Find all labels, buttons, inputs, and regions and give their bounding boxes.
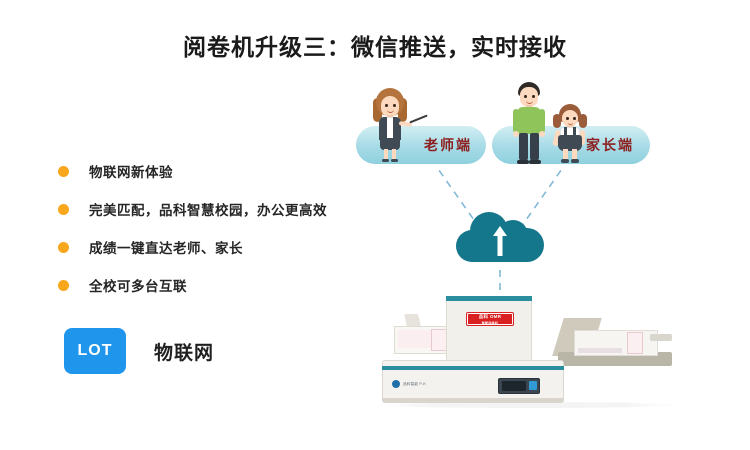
bullet-dot-icon xyxy=(58,166,69,177)
machine-logo-mark-icon xyxy=(392,380,400,388)
iot-badge: LOT xyxy=(64,328,126,374)
feature-label: 完美匹配，品科智慧校园，办公更高效 xyxy=(89,199,327,219)
cloud-upload-icon xyxy=(456,208,544,268)
feature-label: 物联网新体验 xyxy=(89,161,173,181)
teacher-illustration-icon xyxy=(362,82,418,162)
feature-label: 成绩一键直达老师、家长 xyxy=(89,237,243,257)
list-item: 完美匹配，品科智慧校园，办公更高效 xyxy=(58,190,358,228)
architecture-diagram: 老师端 家长端 xyxy=(340,80,740,440)
endpoint-parent-label: 家长端 xyxy=(586,135,634,155)
bullet-dot-icon xyxy=(58,204,69,215)
list-item: 物联网新体验 xyxy=(58,152,358,190)
daughter-illustration-icon xyxy=(548,102,592,164)
list-item: 成绩一键直达老师、家长 xyxy=(58,228,358,266)
feature-label: 全校可多台互联 xyxy=(89,275,187,295)
list-item: 全校可多台互联 xyxy=(58,266,358,304)
upload-arrow-icon xyxy=(492,224,508,258)
bullet-dot-icon xyxy=(58,242,69,253)
bullet-dot-icon xyxy=(58,280,69,291)
machine-brand-label: 品科 OMR 智能阅卷机 xyxy=(466,312,514,326)
iot-badge-group: LOT 物联网 xyxy=(64,328,214,374)
iot-badge-label: 物联网 xyxy=(154,338,214,365)
endpoint-teacher-label: 老师端 xyxy=(424,135,472,155)
father-illustration-icon xyxy=(506,78,552,164)
machine-logo-text: 品科智能 P-K xyxy=(403,382,426,387)
machine-brand-subtext: 智能阅卷机 xyxy=(467,320,513,326)
machine-display-screen xyxy=(502,381,526,391)
slide-canvas: 阅卷机升级三：微信推送，实时接收 物联网新体验 完美匹配，品科智慧校园，办公更高… xyxy=(0,0,750,450)
omr-scanner-machine-icon: 品科 OMR 智能阅卷机 品科智能 P-K xyxy=(382,296,672,416)
page-title: 阅卷机升级三：微信推送，实时接收 xyxy=(0,28,750,62)
machine-logo: 品科智能 P-K xyxy=(392,380,426,388)
machine-power-button[interactable] xyxy=(529,381,537,390)
feature-list: 物联网新体验 完美匹配，品科智慧校园，办公更高效 成绩一键直达老师、家长 全校可… xyxy=(58,152,358,304)
